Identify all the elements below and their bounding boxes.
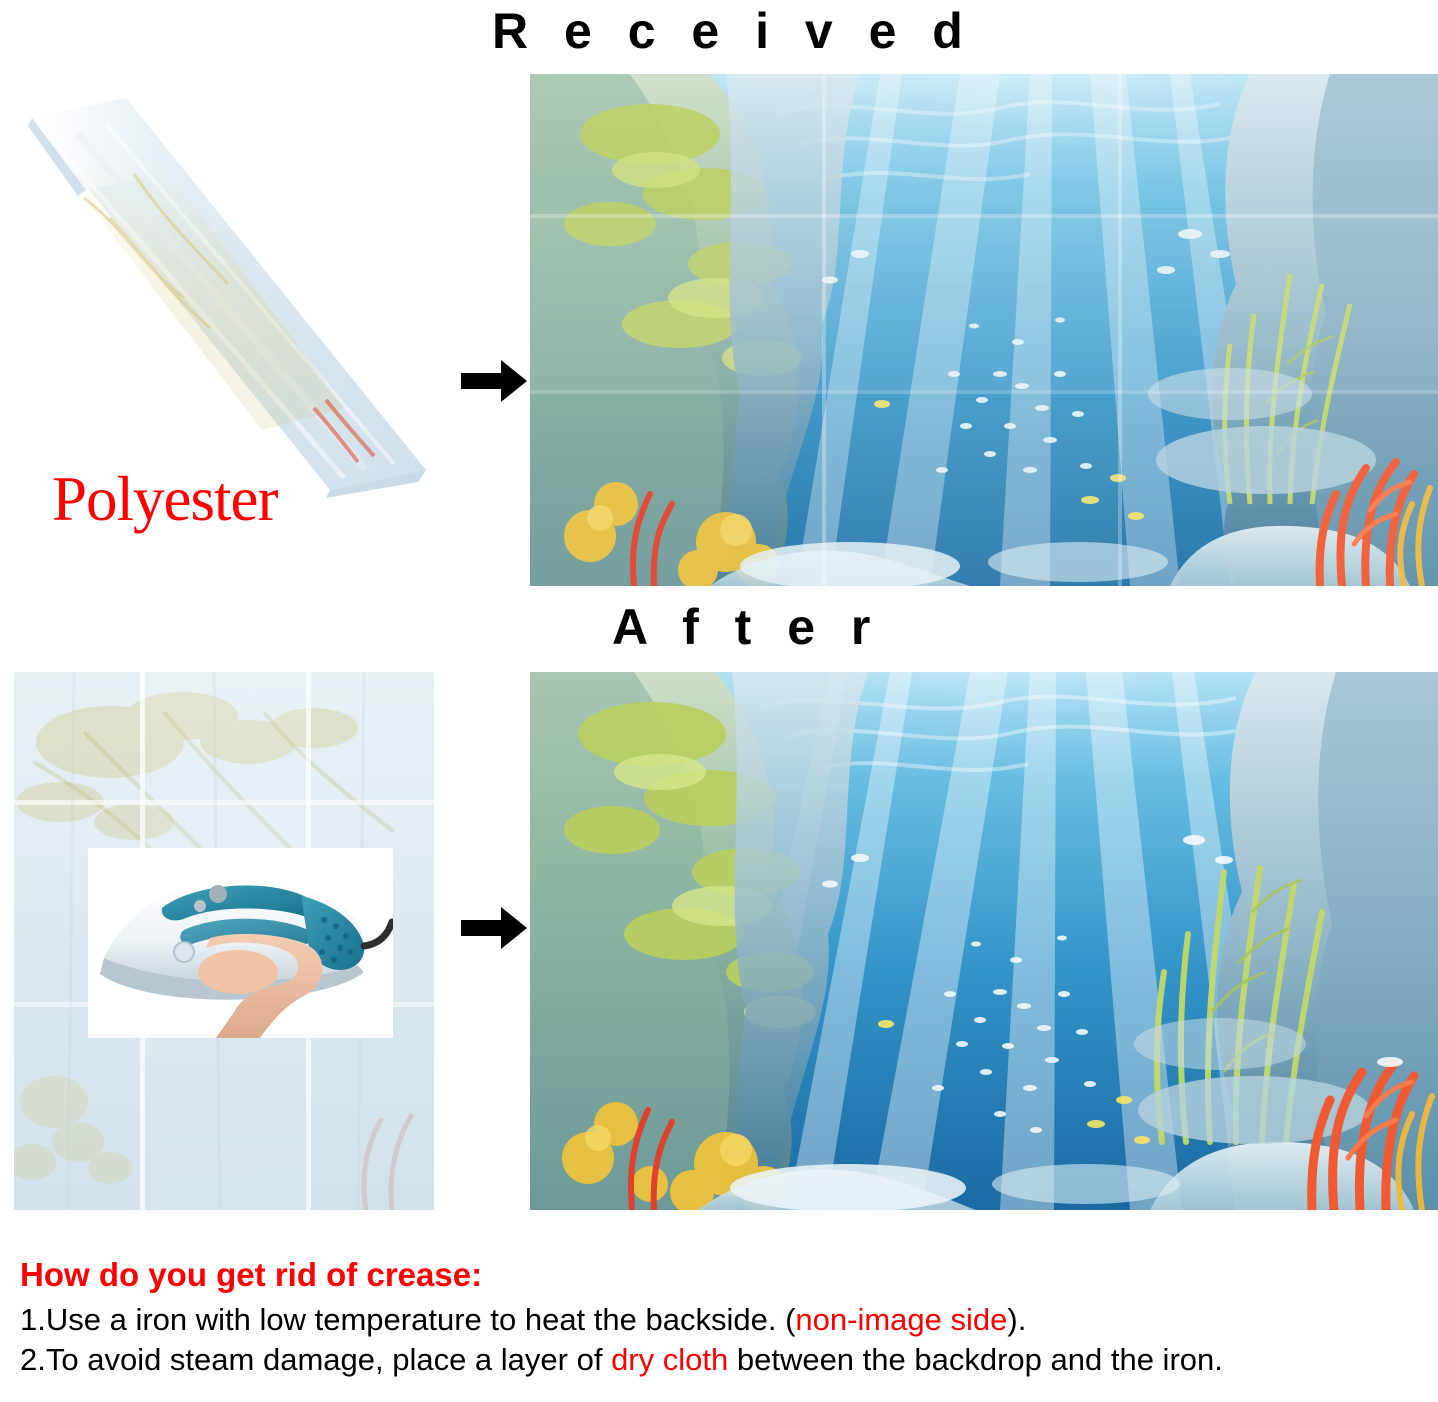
instruction-line-1: 1.Use a iron with low temperature to hea… — [20, 1302, 1430, 1338]
arrow-right-icon-2 — [461, 905, 527, 956]
instruction-line-1-part-a: 1.Use a iron with low temperature to hea… — [20, 1302, 795, 1337]
folded-fabric-image — [14, 78, 434, 498]
reef-image-after — [530, 672, 1438, 1210]
instruction-line-1-highlight: non-image side — [795, 1302, 1007, 1337]
instruction-line-2-part-a: 2.To avoid steam damage, place a layer o… — [20, 1342, 611, 1377]
polyester-label: Polyester — [52, 463, 277, 536]
reef-after-illustration — [530, 672, 1438, 1210]
arrow-right-icon — [461, 358, 527, 409]
instructions-heading: How do you get rid of crease: — [20, 1256, 1430, 1294]
section-title-after: A f t e r — [612, 598, 881, 656]
iron-illustration — [88, 848, 393, 1038]
instruction-line-1-part-b: ). — [1007, 1302, 1026, 1337]
iron-photo-image — [88, 848, 393, 1038]
reef-image-received — [530, 74, 1438, 586]
folded-fabric-illustration — [14, 78, 434, 498]
instruction-line-2: 2.To avoid steam damage, place a layer o… — [20, 1342, 1430, 1378]
section-title-received: R e c e i v e d — [492, 2, 974, 60]
instructions-block: How do you get rid of crease: 1.Use a ir… — [20, 1256, 1430, 1382]
instruction-line-2-highlight: dry cloth — [611, 1342, 728, 1377]
instruction-line-2-part-b: between the backdrop and the iron. — [728, 1342, 1223, 1377]
reef-received-illustration — [530, 74, 1438, 586]
